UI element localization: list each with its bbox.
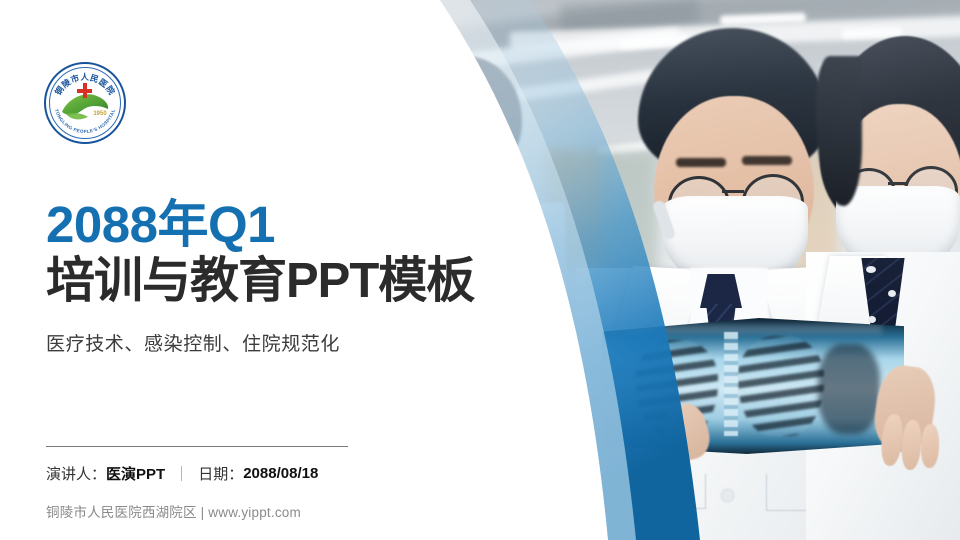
speaker-name: 医演PPT [106,463,165,484]
logo-year: 1950 [90,106,110,118]
hospital-logo: 铜陵市人民医院 TONGLING PEOPLE'S HOSPITAL [44,62,126,144]
title-content: 铜陵市人民医院 TONGLING PEOPLE'S HOSPITAL [0,0,420,540]
footer-text: 铜陵市人民医院西湖院区 | www.yippt.com [46,501,351,521]
date-label: 日期： [198,463,243,484]
page-title-line1: 2088年Q1 [46,198,426,252]
meta-row: 演讲人： 医演PPT 日期： 2088/08/18 [46,463,351,484]
meta-separator [181,466,182,481]
meta-divider [46,446,348,447]
date-value: 2088/08/18 [243,465,318,482]
red-cross-icon [77,83,92,98]
presentation-title-slide: 铜陵市人民医院 TONGLING PEOPLE'S HOSPITAL [0,0,960,540]
svg-text:1950: 1950 [93,111,107,117]
page-subtitle: 医疗技术、感染控制、住院规范化 [46,329,426,356]
title-block: 2088年Q1 培训与教育PPT模板 医疗技术、感染控制、住院规范化 [46,198,426,356]
doctors-reviewing-chest-xray-photo [390,0,960,540]
photo-color-grade [390,0,960,540]
speaker-label: 演讲人： [46,463,106,484]
page-title-line2: 培训与教育PPT模板 [46,254,426,309]
meta-block: 演讲人： 医演PPT 日期： 2088/08/18 铜陵市人民医院西湖院区 | … [46,446,351,521]
